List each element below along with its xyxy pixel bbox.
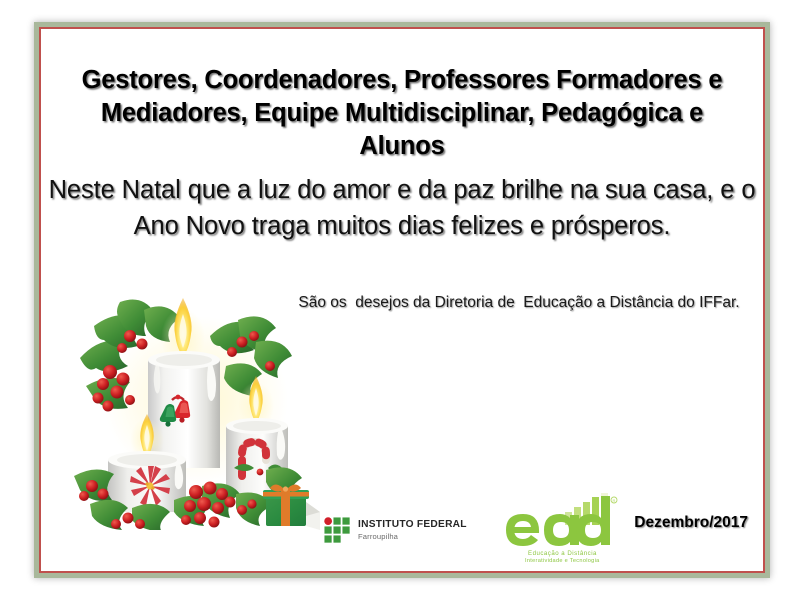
signature-text: São os desejos da Diretoria de Educação … [274, 290, 764, 315]
ead-tagline-line2: Interatividade e Tecnologia [525, 558, 600, 564]
ead-tagline-line1: Educação a Distância [528, 550, 597, 557]
instituto-federal-logo: INSTITUTO FEDERAL Farroupilha [324, 508, 474, 552]
ead-logo: R Educação a Distância Interatividade e … [502, 492, 620, 564]
instituto-federal-subtitle: Farroupilha [358, 532, 467, 541]
page-title: Gestores, Coordenadores, Professores For… [60, 64, 744, 163]
instituto-federal-title: INSTITUTO FEDERAL [358, 519, 467, 531]
instituto-federal-wordmark: INSTITUTO FEDERAL Farroupilha [358, 519, 467, 541]
slide-content: Gestores, Coordenadores, Professores For… [34, 22, 770, 578]
greeting-message: Neste Natal que a luz do amor e da paz b… [48, 172, 756, 244]
greeting-card-slide: Gestores, Coordenadores, Professores For… [0, 0, 800, 600]
christmas-candles-illustration [70, 280, 322, 530]
svg-text:R: R [613, 498, 616, 503]
date-stamp: Dezembro/2017 [634, 514, 748, 532]
instituto-federal-pixel-grid-icon [324, 517, 351, 544]
